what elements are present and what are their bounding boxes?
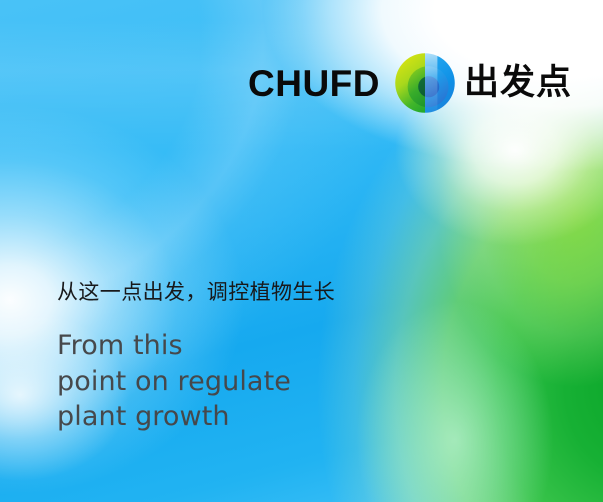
tagline-english-line-1: From this [57,328,335,364]
brand-name-cn: 出发点 [464,66,572,101]
tagline-english-line-3: plant growth [57,399,335,435]
tagline-block: 从这一点出发，调控植物生长 From this point on regulat… [57,280,335,435]
brand-banner: CHUFD [0,0,603,502]
brand-wordmark: CHUFD [248,65,380,102]
tagline-chinese: 从这一点出发，调控植物生长 [57,280,335,305]
chufd-circle-logo-icon [394,52,456,114]
logo-lockup[interactable]: CHUFD [248,52,572,114]
tagline-english-line-2: point on regulate [57,364,335,400]
tagline-english: From this point on regulate plant growth [57,328,335,435]
